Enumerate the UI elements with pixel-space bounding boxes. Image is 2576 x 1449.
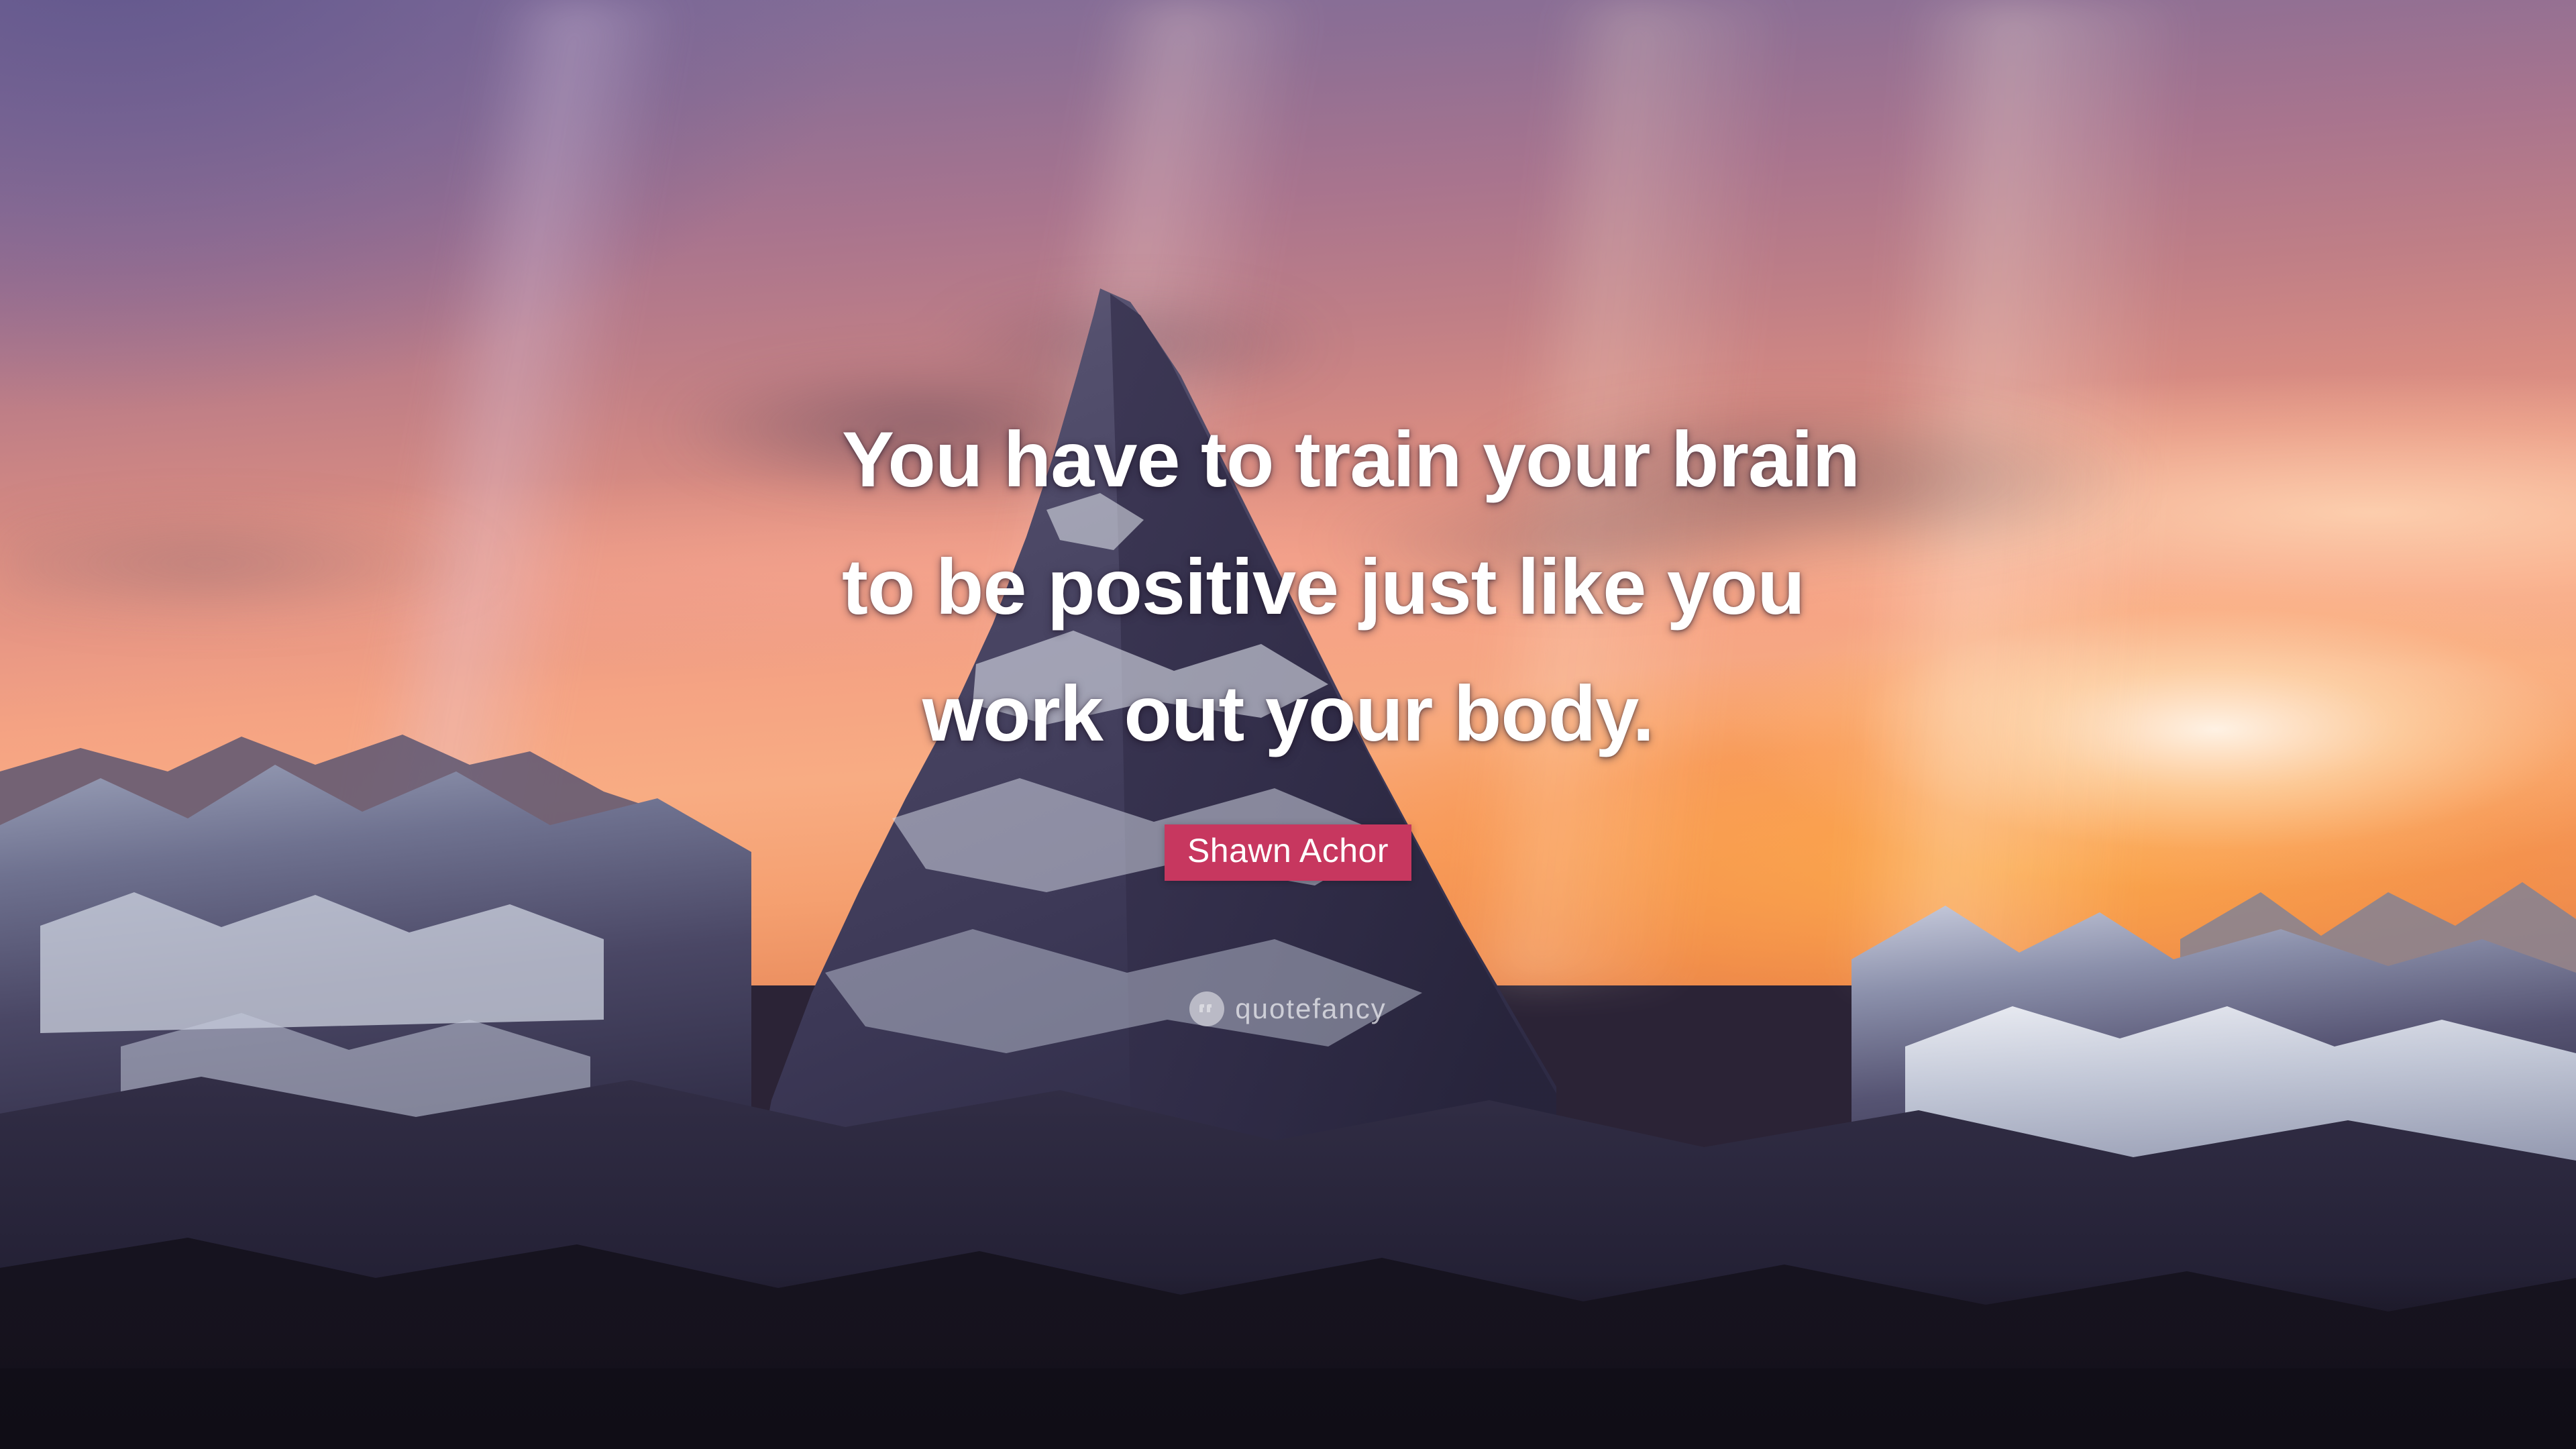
quotation-mark-icon <box>1189 991 1224 1026</box>
quote-line-1: You have to train your brain <box>842 396 1734 523</box>
quote-line-2: to be positive just like you <box>842 523 1734 651</box>
author-badge[interactable]: Shawn Achor <box>1165 824 1411 881</box>
author-name: Shawn Achor <box>1187 832 1389 869</box>
quote-text: You have to train your brain to be posit… <box>842 396 1734 777</box>
quote-poster: You have to train your brain to be posit… <box>0 0 2576 1449</box>
quote-line-3: work out your body. <box>842 650 1734 777</box>
poster-content: You have to train your brain to be posit… <box>0 0 2576 1449</box>
quotefancy-watermark[interactable]: quotefancy <box>1189 991 1387 1026</box>
quotefancy-brand: quotefancy <box>1235 993 1387 1025</box>
